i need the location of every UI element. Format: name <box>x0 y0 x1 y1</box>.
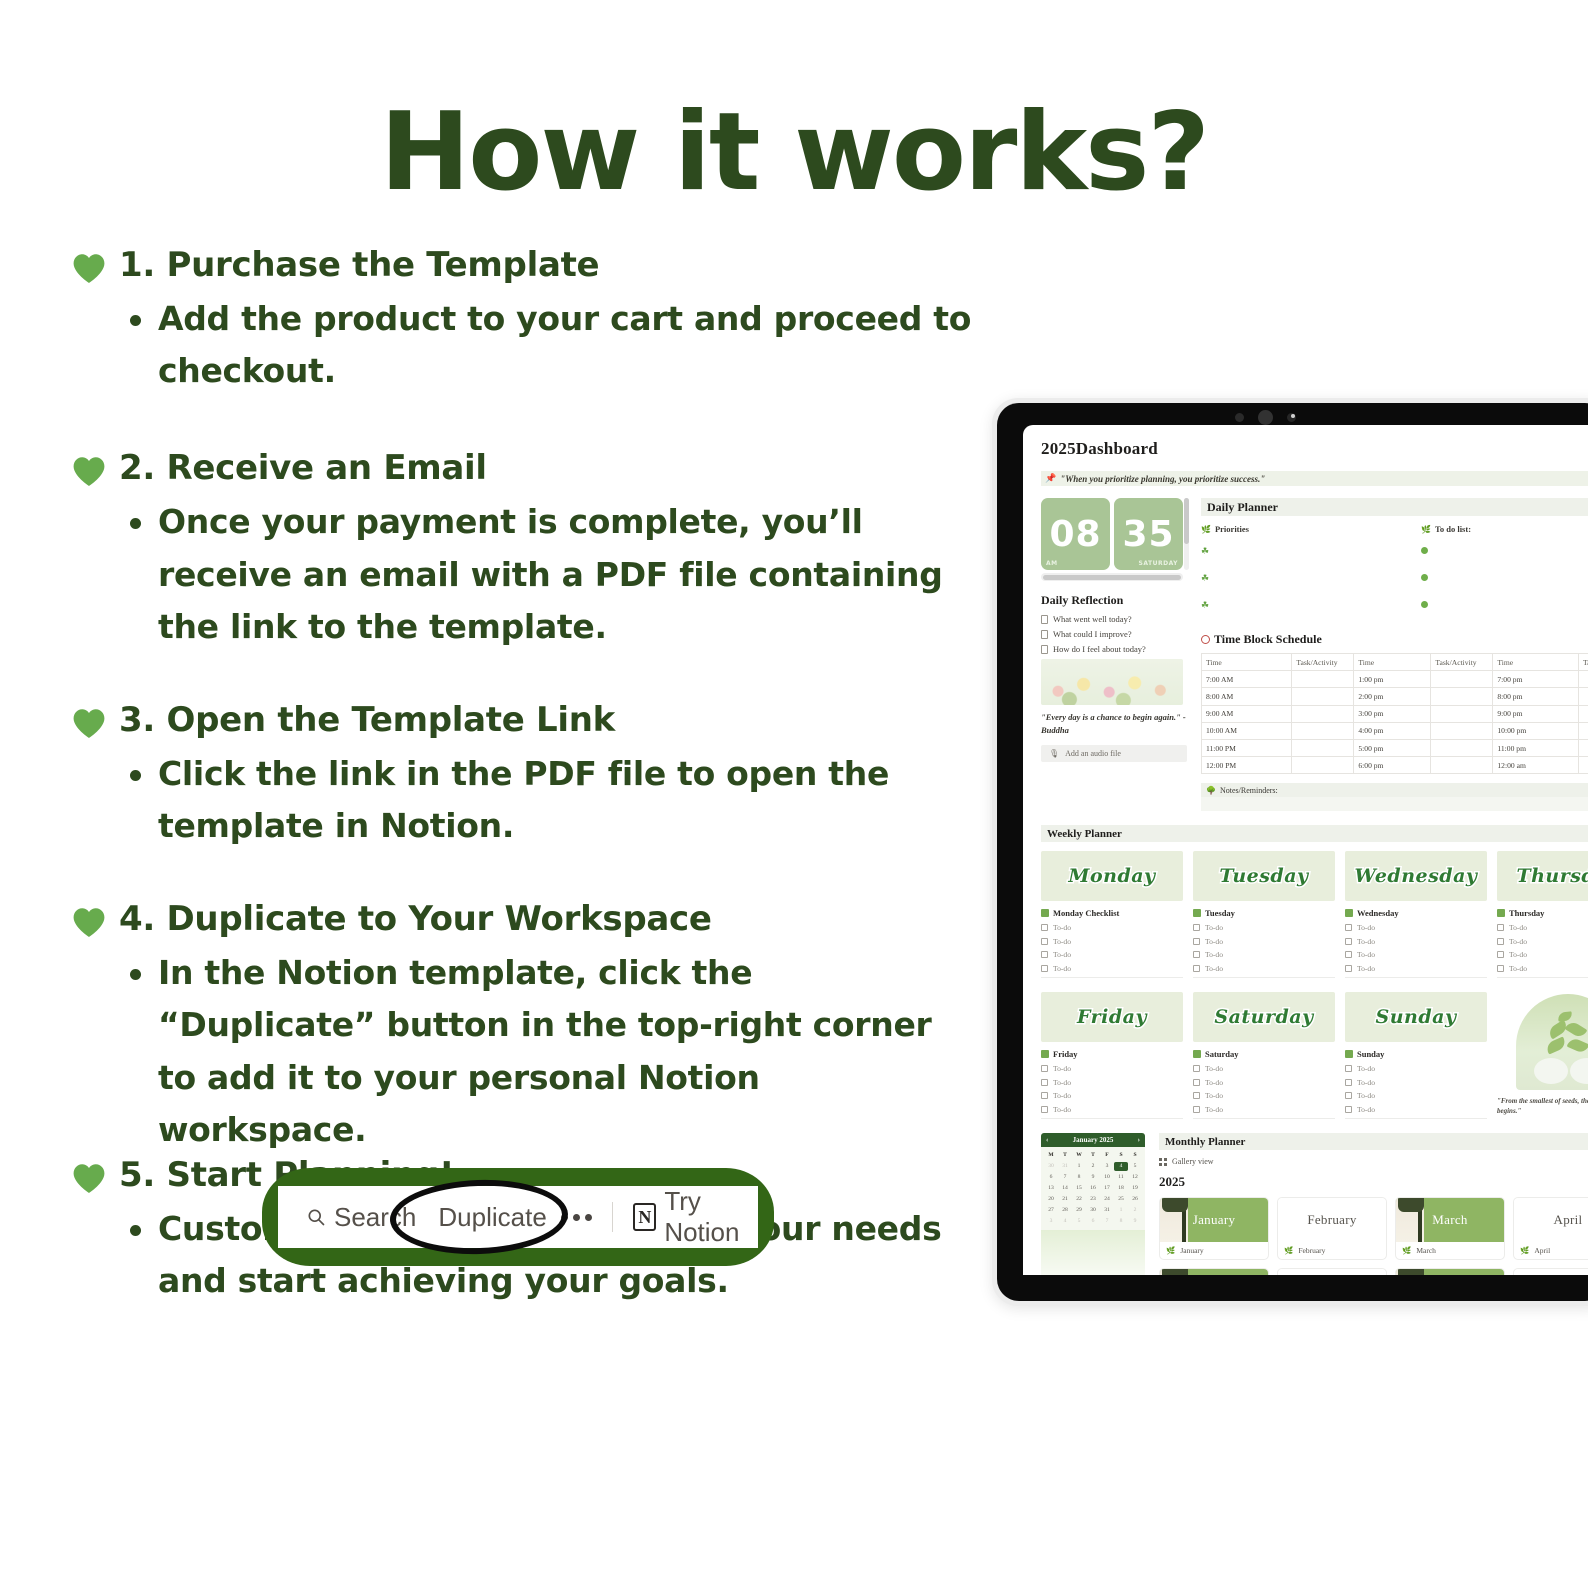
todo-item[interactable]: To-do <box>1193 1091 1335 1100</box>
calendar-day[interactable]: 25 <box>1114 1195 1128 1204</box>
todo-row[interactable] <box>1421 568 1588 586</box>
checkbox-icon[interactable] <box>1345 1065 1352 1072</box>
checkbox-icon[interactable] <box>1041 951 1048 958</box>
weekly-day-column: SaturdaySaturdayTo-doTo-doTo-doTo-do <box>1193 992 1335 1119</box>
priority-row[interactable]: ☘ <box>1201 541 1421 559</box>
calendar-day[interactable]: 28 <box>1058 1206 1072 1215</box>
todo-row[interactable] <box>1421 595 1588 613</box>
add-audio-file-button[interactable]: 🎙 Add an audio file <box>1041 745 1187 762</box>
todo-label: To do list: <box>1435 524 1471 534</box>
calendar-day[interactable]: 7 <box>1100 1217 1114 1226</box>
month-card[interactable]: July🌿July <box>1395 1268 1505 1275</box>
plant-quote-card: "From the smallest of seeds, the greates… <box>1497 992 1588 1119</box>
plant-quote-text: "From the smallest of seeds, the greates… <box>1497 1096 1588 1116</box>
month-name: April <box>1554 1212 1583 1228</box>
checkbox-icon[interactable] <box>1193 951 1200 958</box>
day-list-header: Saturday <box>1193 1049 1335 1059</box>
checkbox-icon[interactable] <box>1193 965 1200 972</box>
mini-calendar: ‹ January 2025 › MTWTFSS3031123456789101… <box>1041 1133 1145 1275</box>
todo-item[interactable]: To-do <box>1345 1105 1487 1114</box>
time-cell: 7:00 AM <box>1202 671 1292 688</box>
todo-item[interactable]: To-do <box>1041 1078 1183 1087</box>
calendar-day[interactable]: 31 <box>1100 1206 1114 1215</box>
todo-label: To-do <box>1053 1091 1071 1100</box>
search-label: Search <box>334 1202 416 1233</box>
checkbox-icon[interactable] <box>1345 924 1352 931</box>
bullet-item: Add the product to your cart and proceed… <box>124 293 972 397</box>
todo-item[interactable]: To-do <box>1345 1064 1487 1073</box>
checkbox-icon[interactable] <box>1041 1065 1048 1072</box>
calendar-dow: S <box>1114 1151 1128 1160</box>
calendar-day[interactable]: 13 <box>1044 1184 1058 1193</box>
clock-hours-card: 08 AM <box>1041 498 1110 570</box>
activity-cell[interactable] <box>1579 671 1588 688</box>
tablet-bezel: 2025Dashboard 📌 "When you prioritize pla… <box>997 403 1588 1301</box>
step-bullets-3: Click the link in the PDF file to open t… <box>124 748 972 852</box>
calendar-day[interactable]: 3 <box>1044 1217 1058 1226</box>
weekly-day-column: MondayMonday ChecklistTo-doTo-doTo-doTo-… <box>1041 851 1183 978</box>
notion-page-title: 2025Dashboard <box>1041 439 1588 459</box>
calendar-month-label: January 2025 <box>1073 1136 1114 1144</box>
day-banner-label: Saturday <box>1214 1006 1313 1028</box>
day-divider <box>1193 1118 1335 1119</box>
page-icon <box>1041 615 1048 624</box>
time-cell: 4:00 pm <box>1354 722 1431 739</box>
month-emoji-icon: 🌿 <box>1520 1246 1529 1255</box>
day-banner-label: Tuesday <box>1219 865 1308 887</box>
try-notion-button[interactable]: N Try Notion <box>633 1186 758 1248</box>
todo-label: To-do <box>1205 1105 1223 1114</box>
todo-label: To-do <box>1053 1078 1071 1087</box>
day-banner: Thursday <box>1497 851 1588 901</box>
try-notion-label: Try Notion <box>664 1186 758 1248</box>
calendar-day[interactable]: 4 <box>1114 1162 1128 1171</box>
todo-label: To-do <box>1205 964 1223 973</box>
step-bullets-2: Once your payment is complete, you’ll re… <box>124 496 972 652</box>
priorities-column: 🌿 Priorities ☘☘☘ <box>1201 524 1421 622</box>
month-caption: 🌿April <box>1514 1242 1588 1259</box>
month-name: February <box>1307 1212 1356 1228</box>
calendar-day[interactable]: 2 <box>1086 1162 1100 1171</box>
calendar-day[interactable]: 17 <box>1100 1184 1114 1193</box>
checkbox-icon[interactable] <box>1193 1106 1200 1113</box>
activity-cell[interactable] <box>1579 722 1588 739</box>
checkbox-icon[interactable] <box>1041 924 1048 931</box>
flip-clock-widget: 08 AM 35 SATURDAY <box>1041 498 1183 581</box>
top-quote-text: "When you prioritize planning, you prior… <box>1060 474 1265 484</box>
camera-icon <box>1258 410 1273 425</box>
todo-column: 🌿 To do list: <box>1421 524 1588 622</box>
time-cell: 12:00 PM <box>1202 757 1292 774</box>
calendar-day[interactable]: 14 <box>1058 1184 1072 1193</box>
notes-label: Notes/Reminders: <box>1220 786 1278 795</box>
todo-label: To-do <box>1053 937 1071 946</box>
month-card[interactable]: April🌿April <box>1513 1197 1588 1260</box>
checkbox-icon[interactable] <box>1193 938 1200 945</box>
buddha-quote: "Every day is a chance to begin again." … <box>1041 711 1187 737</box>
day-divider <box>1345 1118 1487 1119</box>
todo-row[interactable] <box>1421 541 1588 559</box>
plant-illustration <box>1516 994 1588 1090</box>
day-banner: Friday <box>1041 992 1183 1042</box>
tablet-screen: 2025Dashboard 📌 "When you prioritize pla… <box>1023 425 1588 1275</box>
calendar-day[interactable]: 29 <box>1072 1206 1086 1215</box>
activity-cell[interactable] <box>1292 739 1354 756</box>
heart-icon <box>72 707 106 739</box>
monthly-planner-title: Monthly Planner <box>1159 1133 1588 1150</box>
calendar-day[interactable]: 2 <box>1128 1206 1142 1215</box>
day-list-title: Tuesday <box>1205 908 1235 918</box>
time-cell: 9:00 pm <box>1493 705 1579 722</box>
month-thumbnail: May <box>1160 1269 1268 1275</box>
todo-label: To-do <box>1053 923 1071 932</box>
day-list-header: Wednesday <box>1345 908 1487 918</box>
time-cell: 2:00 pm <box>1354 688 1431 705</box>
sensor-icon <box>1235 413 1244 422</box>
weekly-day-column: ThursdayThursdayTo-doTo-doTo-doTo-do <box>1497 851 1588 978</box>
month-thumbnail: August <box>1514 1269 1588 1275</box>
time-block-row: 10:00 AM4:00 pm10:00 pm <box>1202 722 1588 739</box>
checkbox-icon[interactable] <box>1497 938 1504 945</box>
time-block-row: 9:00 AM3:00 pm9:00 pm <box>1202 705 1588 722</box>
activity-cell[interactable] <box>1431 722 1493 739</box>
calendar-day[interactable]: 3 <box>1100 1162 1114 1171</box>
heart-icon <box>72 1162 106 1194</box>
todo-item[interactable]: To-do <box>1497 923 1588 932</box>
todo-item[interactable]: To-do <box>1041 923 1183 932</box>
time-cell: 3:00 pm <box>1354 705 1431 722</box>
flower-illustration <box>1041 659 1183 705</box>
month-card[interactable]: January🌿January <box>1159 1197 1269 1260</box>
checkbox-icon[interactable] <box>1345 951 1352 958</box>
calendar-day[interactable]: 18 <box>1114 1184 1128 1193</box>
clock-horizontal-scrollbar[interactable] <box>1041 573 1183 581</box>
month-thumbnail: June <box>1278 1269 1386 1275</box>
more-options-icon[interactable] <box>561 1214 592 1221</box>
duplicate-button[interactable]: Duplicate <box>438 1202 546 1233</box>
page-icon <box>1041 645 1048 654</box>
step-title-4: 4. Duplicate to Your Workspace <box>119 900 712 939</box>
calendar-day[interactable]: 27 <box>1044 1206 1058 1215</box>
activity-cell[interactable] <box>1431 671 1493 688</box>
time-block-row: 7:00 AM1:00 pm7:00 pm <box>1202 671 1588 688</box>
todo-item[interactable]: To-do <box>1041 950 1183 959</box>
calendar-day[interactable]: 1 <box>1072 1162 1086 1171</box>
weekly-day-column: FridayFridayTo-doTo-doTo-doTo-do <box>1041 992 1183 1119</box>
todo-label: To-do <box>1509 950 1527 959</box>
activity-cell[interactable] <box>1579 705 1588 722</box>
checkbox-icon[interactable] <box>1497 924 1504 931</box>
activity-cell[interactable] <box>1292 671 1354 688</box>
priority-row[interactable]: ☘ <box>1201 595 1421 613</box>
activity-cell[interactable] <box>1292 688 1354 705</box>
calendar-day[interactable]: 22 <box>1072 1195 1086 1204</box>
reflection-item[interactable]: How do I feel about today? <box>1041 644 1187 654</box>
heart-icon <box>72 906 106 938</box>
daily-reflection-items: What went well today?What could I improv… <box>1041 614 1187 654</box>
calendar-day[interactable]: 15 <box>1072 1184 1086 1193</box>
notes-input-area[interactable] <box>1201 797 1588 811</box>
todo-item[interactable]: To-do <box>1497 950 1588 959</box>
gallery-view-label: Gallery view <box>1172 1157 1214 1166</box>
day-banner-label: Thursday <box>1516 865 1588 887</box>
calendar-day[interactable]: 8 <box>1114 1217 1128 1226</box>
monthly-planner: Monthly Planner Gallery view 2025 Januar… <box>1159 1133 1588 1275</box>
day-banner: Monday <box>1041 851 1183 901</box>
green-dot-icon <box>1421 574 1428 581</box>
day-divider <box>1193 977 1335 978</box>
time-block-row: 11:00 PM5:00 pm11:00 pm <box>1202 739 1588 756</box>
calendar-day[interactable]: 19 <box>1128 1184 1142 1193</box>
activity-cell[interactable] <box>1292 757 1354 774</box>
todo-item[interactable]: To-do <box>1193 923 1335 932</box>
poster-root: How it works? 1. Purchase the TemplateAd… <box>0 0 1588 1588</box>
todo-item[interactable]: To-do <box>1345 937 1487 946</box>
calendar-day[interactable]: 9 <box>1128 1217 1142 1226</box>
time-cell: 8:00 AM <box>1202 688 1292 705</box>
calendar-day[interactable]: 12 <box>1128 1173 1142 1182</box>
activity-cell[interactable] <box>1579 739 1588 756</box>
calendar-day[interactable]: 16 <box>1086 1184 1100 1193</box>
reflection-item[interactable]: What went well today? <box>1041 614 1187 624</box>
time-cell: 7:00 pm <box>1493 671 1579 688</box>
todo-label: To-do <box>1205 950 1223 959</box>
step-heading-1: 1. Purchase the Template <box>72 246 972 285</box>
todo-item[interactable]: To-do <box>1345 964 1487 973</box>
todo-item[interactable]: To-do <box>1041 937 1183 946</box>
activity-cell[interactable] <box>1292 722 1354 739</box>
month-thumbnail: February <box>1278 1198 1386 1242</box>
notes-reminders-bar: 🌳 Notes/Reminders: <box>1201 783 1588 797</box>
notion-logo-icon: N <box>633 1203 656 1231</box>
todo-item[interactable]: To-do <box>1041 1091 1183 1100</box>
month-card[interactable]: August🌿August <box>1513 1268 1588 1275</box>
clock-meridiem: AM <box>1046 560 1058 567</box>
calendar-day[interactable]: 9 <box>1086 1173 1100 1182</box>
month-emoji-icon: 🌿 <box>1284 1246 1293 1255</box>
todo-item[interactable]: To-do <box>1041 1105 1183 1114</box>
clock-vertical-scrollbar[interactable] <box>1184 498 1189 570</box>
checkbox-icon[interactable] <box>1041 1079 1048 1086</box>
checkbox-icon[interactable] <box>1041 938 1048 945</box>
month-caption: 🌿January <box>1160 1242 1268 1259</box>
month-card[interactable]: February🌿February <box>1277 1197 1387 1260</box>
day-banner: Sunday <box>1345 992 1487 1042</box>
day-banner-label: Friday <box>1077 1006 1147 1028</box>
clock-weekday: SATURDAY <box>1139 560 1178 567</box>
todo-item[interactable]: To-do <box>1193 937 1335 946</box>
todo-label: To-do <box>1205 1064 1223 1073</box>
search-button[interactable]: Search <box>306 1202 416 1233</box>
checkbox-icon[interactable] <box>1193 1092 1200 1099</box>
weekly-day-column: TuesdayTuesdayTo-doTo-doTo-doTo-do <box>1193 851 1335 978</box>
green-dot-icon <box>1421 547 1428 554</box>
time-block-table: TimeTask/ActivityTimeTask/ActivityTimeTa… <box>1201 653 1588 774</box>
calendar-day[interactable]: 24 <box>1100 1195 1114 1204</box>
checkbox-icon[interactable] <box>1345 1092 1352 1099</box>
calendar-day[interactable]: 11 <box>1114 1173 1128 1182</box>
checkbox-icon[interactable] <box>1193 1065 1200 1072</box>
reflection-item[interactable]: What could I improve? <box>1041 629 1187 639</box>
calendar-day[interactable]: 21 <box>1058 1195 1072 1204</box>
time-block-header-cell: Time <box>1493 654 1579 671</box>
activity-cell[interactable] <box>1431 705 1493 722</box>
checklist-icon <box>1193 909 1201 917</box>
month-card[interactable]: June🌿June <box>1277 1268 1387 1275</box>
calendar-footer-gradient <box>1041 1230 1145 1275</box>
month-caption-label: March <box>1416 1246 1436 1255</box>
clock-hours: 08 <box>1049 514 1101 555</box>
day-list-title: Sunday <box>1357 1049 1384 1059</box>
todo-item[interactable]: To-do <box>1193 964 1335 973</box>
day-banner-label: Wednesday <box>1355 865 1478 887</box>
todo-label: To-do <box>1357 937 1375 946</box>
calendar-next-icon[interactable]: › <box>1138 1136 1140 1144</box>
month-thumbnail: January <box>1160 1198 1268 1242</box>
todo-item[interactable]: To-do <box>1193 1105 1335 1114</box>
todo-item[interactable]: To-do <box>1345 1091 1487 1100</box>
calendar-prev-icon[interactable]: ‹ <box>1046 1136 1048 1144</box>
todo-item[interactable]: To-do <box>1497 937 1588 946</box>
camera-cluster <box>1235 410 1296 425</box>
step-title-2: 2. Receive an Email <box>119 449 487 488</box>
todo-label: To-do <box>1509 923 1527 932</box>
day-list-title: Monday Checklist <box>1053 908 1119 918</box>
day-list-title: Friday <box>1053 1049 1078 1059</box>
activity-cell[interactable] <box>1579 757 1588 774</box>
todo-item[interactable]: To-do <box>1345 923 1487 932</box>
time-block-row: 8:00 AM2:00 pm8:00 pm <box>1202 688 1588 705</box>
day-divider <box>1041 977 1183 978</box>
heart-icon <box>72 455 106 487</box>
time-block-header-cell: Time <box>1202 654 1292 671</box>
step-heading-4: 4. Duplicate to Your Workspace <box>72 900 972 939</box>
time-cell: 10:00 AM <box>1202 722 1292 739</box>
calendar-day[interactable]: 23 <box>1086 1195 1100 1204</box>
priorities-label: Priorities <box>1215 524 1249 534</box>
step-bullets-1: Add the product to your cart and proceed… <box>124 293 972 397</box>
calendar-day[interactable]: 5 <box>1072 1217 1086 1226</box>
top-quote-banner: 📌 "When you prioritize planning, you pri… <box>1041 471 1588 486</box>
todo-item[interactable]: To-do <box>1041 964 1183 973</box>
gallery-view-button[interactable]: Gallery view <box>1159 1157 1588 1166</box>
checkbox-icon[interactable] <box>1041 965 1048 972</box>
calendar-day[interactable]: 26 <box>1128 1195 1142 1204</box>
activity-cell[interactable] <box>1431 757 1493 774</box>
todo-item[interactable]: To-do <box>1345 950 1487 959</box>
checkbox-icon[interactable] <box>1345 938 1352 945</box>
checkbox-icon[interactable] <box>1497 951 1504 958</box>
bullet-item: In the Notion template, click the “Dupli… <box>124 947 972 1156</box>
time-block-title-row: Time Block Schedule <box>1201 632 1588 647</box>
priority-row[interactable]: ☘ <box>1201 568 1421 586</box>
calendar-day[interactable]: 6 <box>1044 1173 1058 1182</box>
calendar-day[interactable]: 10 <box>1100 1173 1114 1182</box>
month-emoji-icon: 🌿 <box>1166 1246 1175 1255</box>
checkbox-icon[interactable] <box>1193 924 1200 931</box>
checkbox-icon[interactable] <box>1041 1092 1048 1099</box>
activity-cell[interactable] <box>1431 739 1493 756</box>
time-cell: 8:00 pm <box>1493 688 1579 705</box>
duplicate-callout: Search Duplicate N Try Notion <box>262 1168 774 1266</box>
calendar-dow: T <box>1058 1151 1072 1160</box>
daily-planner-title: Daily Planner <box>1201 498 1588 516</box>
calendar-day[interactable]: 20 <box>1044 1195 1058 1204</box>
calendar-day[interactable]: 6 <box>1086 1217 1100 1226</box>
activity-cell[interactable] <box>1431 688 1493 705</box>
month-caption: 🌿March <box>1396 1242 1504 1259</box>
checklist-icon <box>1041 1050 1049 1058</box>
step-heading-2: 2. Receive an Email <box>72 449 972 488</box>
day-list-header: Monday Checklist <box>1041 908 1183 918</box>
month-name: March <box>1432 1212 1467 1228</box>
todo-label: To-do <box>1205 923 1223 932</box>
calendar-day[interactable]: 7 <box>1058 1173 1072 1182</box>
step-title-3: 3. Open the Template Link <box>119 701 615 740</box>
day-banner: Tuesday <box>1193 851 1335 901</box>
todo-label: To-do <box>1053 950 1071 959</box>
time-cell: 11:00 pm <box>1493 739 1579 756</box>
time-block-header-cell: Task/Activity <box>1292 654 1354 671</box>
audio-icon: 🎙 <box>1049 749 1059 758</box>
todo-item[interactable]: To-do <box>1345 1078 1487 1087</box>
step-1: 1. Purchase the TemplateAdd the product … <box>72 246 972 397</box>
todo-label: To-do <box>1357 1078 1375 1087</box>
calendar-day[interactable]: 1 <box>1114 1206 1128 1215</box>
calendar-grid[interactable]: MTWTFSS303112345678910111213141516171819… <box>1041 1147 1145 1230</box>
weekly-day-column: SundaySundayTo-doTo-doTo-doTo-do <box>1345 992 1487 1119</box>
calendar-day[interactable]: 30 <box>1044 1162 1058 1171</box>
duplicate-label: Duplicate <box>438 1202 546 1233</box>
bullet-item: Click the link in the PDF file to open t… <box>124 748 972 852</box>
activity-cell[interactable] <box>1292 705 1354 722</box>
todo-label: To-do <box>1509 937 1527 946</box>
month-caption-label: February <box>1298 1246 1325 1255</box>
todo-item[interactable]: To-do <box>1193 950 1335 959</box>
card-leaf-icon <box>1162 1198 1188 1212</box>
month-card[interactable]: May🌿May <box>1159 1268 1269 1275</box>
time-block-header-cell: Task/Activity <box>1579 654 1588 671</box>
calendar-day[interactable]: 4 <box>1058 1217 1072 1226</box>
calendar-day[interactable]: 31 <box>1058 1162 1072 1171</box>
checkbox-icon[interactable] <box>1345 1079 1352 1086</box>
todo-item[interactable]: To-do <box>1193 1078 1335 1087</box>
activity-cell[interactable] <box>1579 688 1588 705</box>
day-banner: Wednesday <box>1345 851 1487 901</box>
month-card[interactable]: March🌿March <box>1395 1197 1505 1260</box>
calendar-day[interactable]: 8 <box>1072 1173 1086 1182</box>
checkbox-icon[interactable] <box>1193 1079 1200 1086</box>
todo-item[interactable]: To-do <box>1041 1064 1183 1073</box>
time-cell: 9:00 AM <box>1202 705 1292 722</box>
todo-item[interactable]: To-do <box>1193 1064 1335 1073</box>
checkbox-icon[interactable] <box>1497 965 1504 972</box>
calendar-day[interactable]: 5 <box>1128 1162 1142 1171</box>
clock-minutes-card: 35 SATURDAY <box>1114 498 1183 570</box>
checkbox-icon[interactable] <box>1345 1106 1352 1113</box>
clover-icon: ☘ <box>1201 573 1209 583</box>
todo-item[interactable]: To-do <box>1497 964 1588 973</box>
priorities-icon: 🌿 <box>1201 525 1211 534</box>
time-block-header-cell: Task/Activity <box>1431 654 1493 671</box>
checklist-icon <box>1345 1050 1353 1058</box>
todo-label: To-do <box>1205 937 1223 946</box>
checkbox-icon[interactable] <box>1041 1106 1048 1113</box>
todo-label: To-do <box>1357 964 1375 973</box>
calendar-day[interactable]: 30 <box>1086 1206 1100 1215</box>
checkbox-icon[interactable] <box>1345 965 1352 972</box>
step-title-1: 1. Purchase the Template <box>119 246 599 285</box>
